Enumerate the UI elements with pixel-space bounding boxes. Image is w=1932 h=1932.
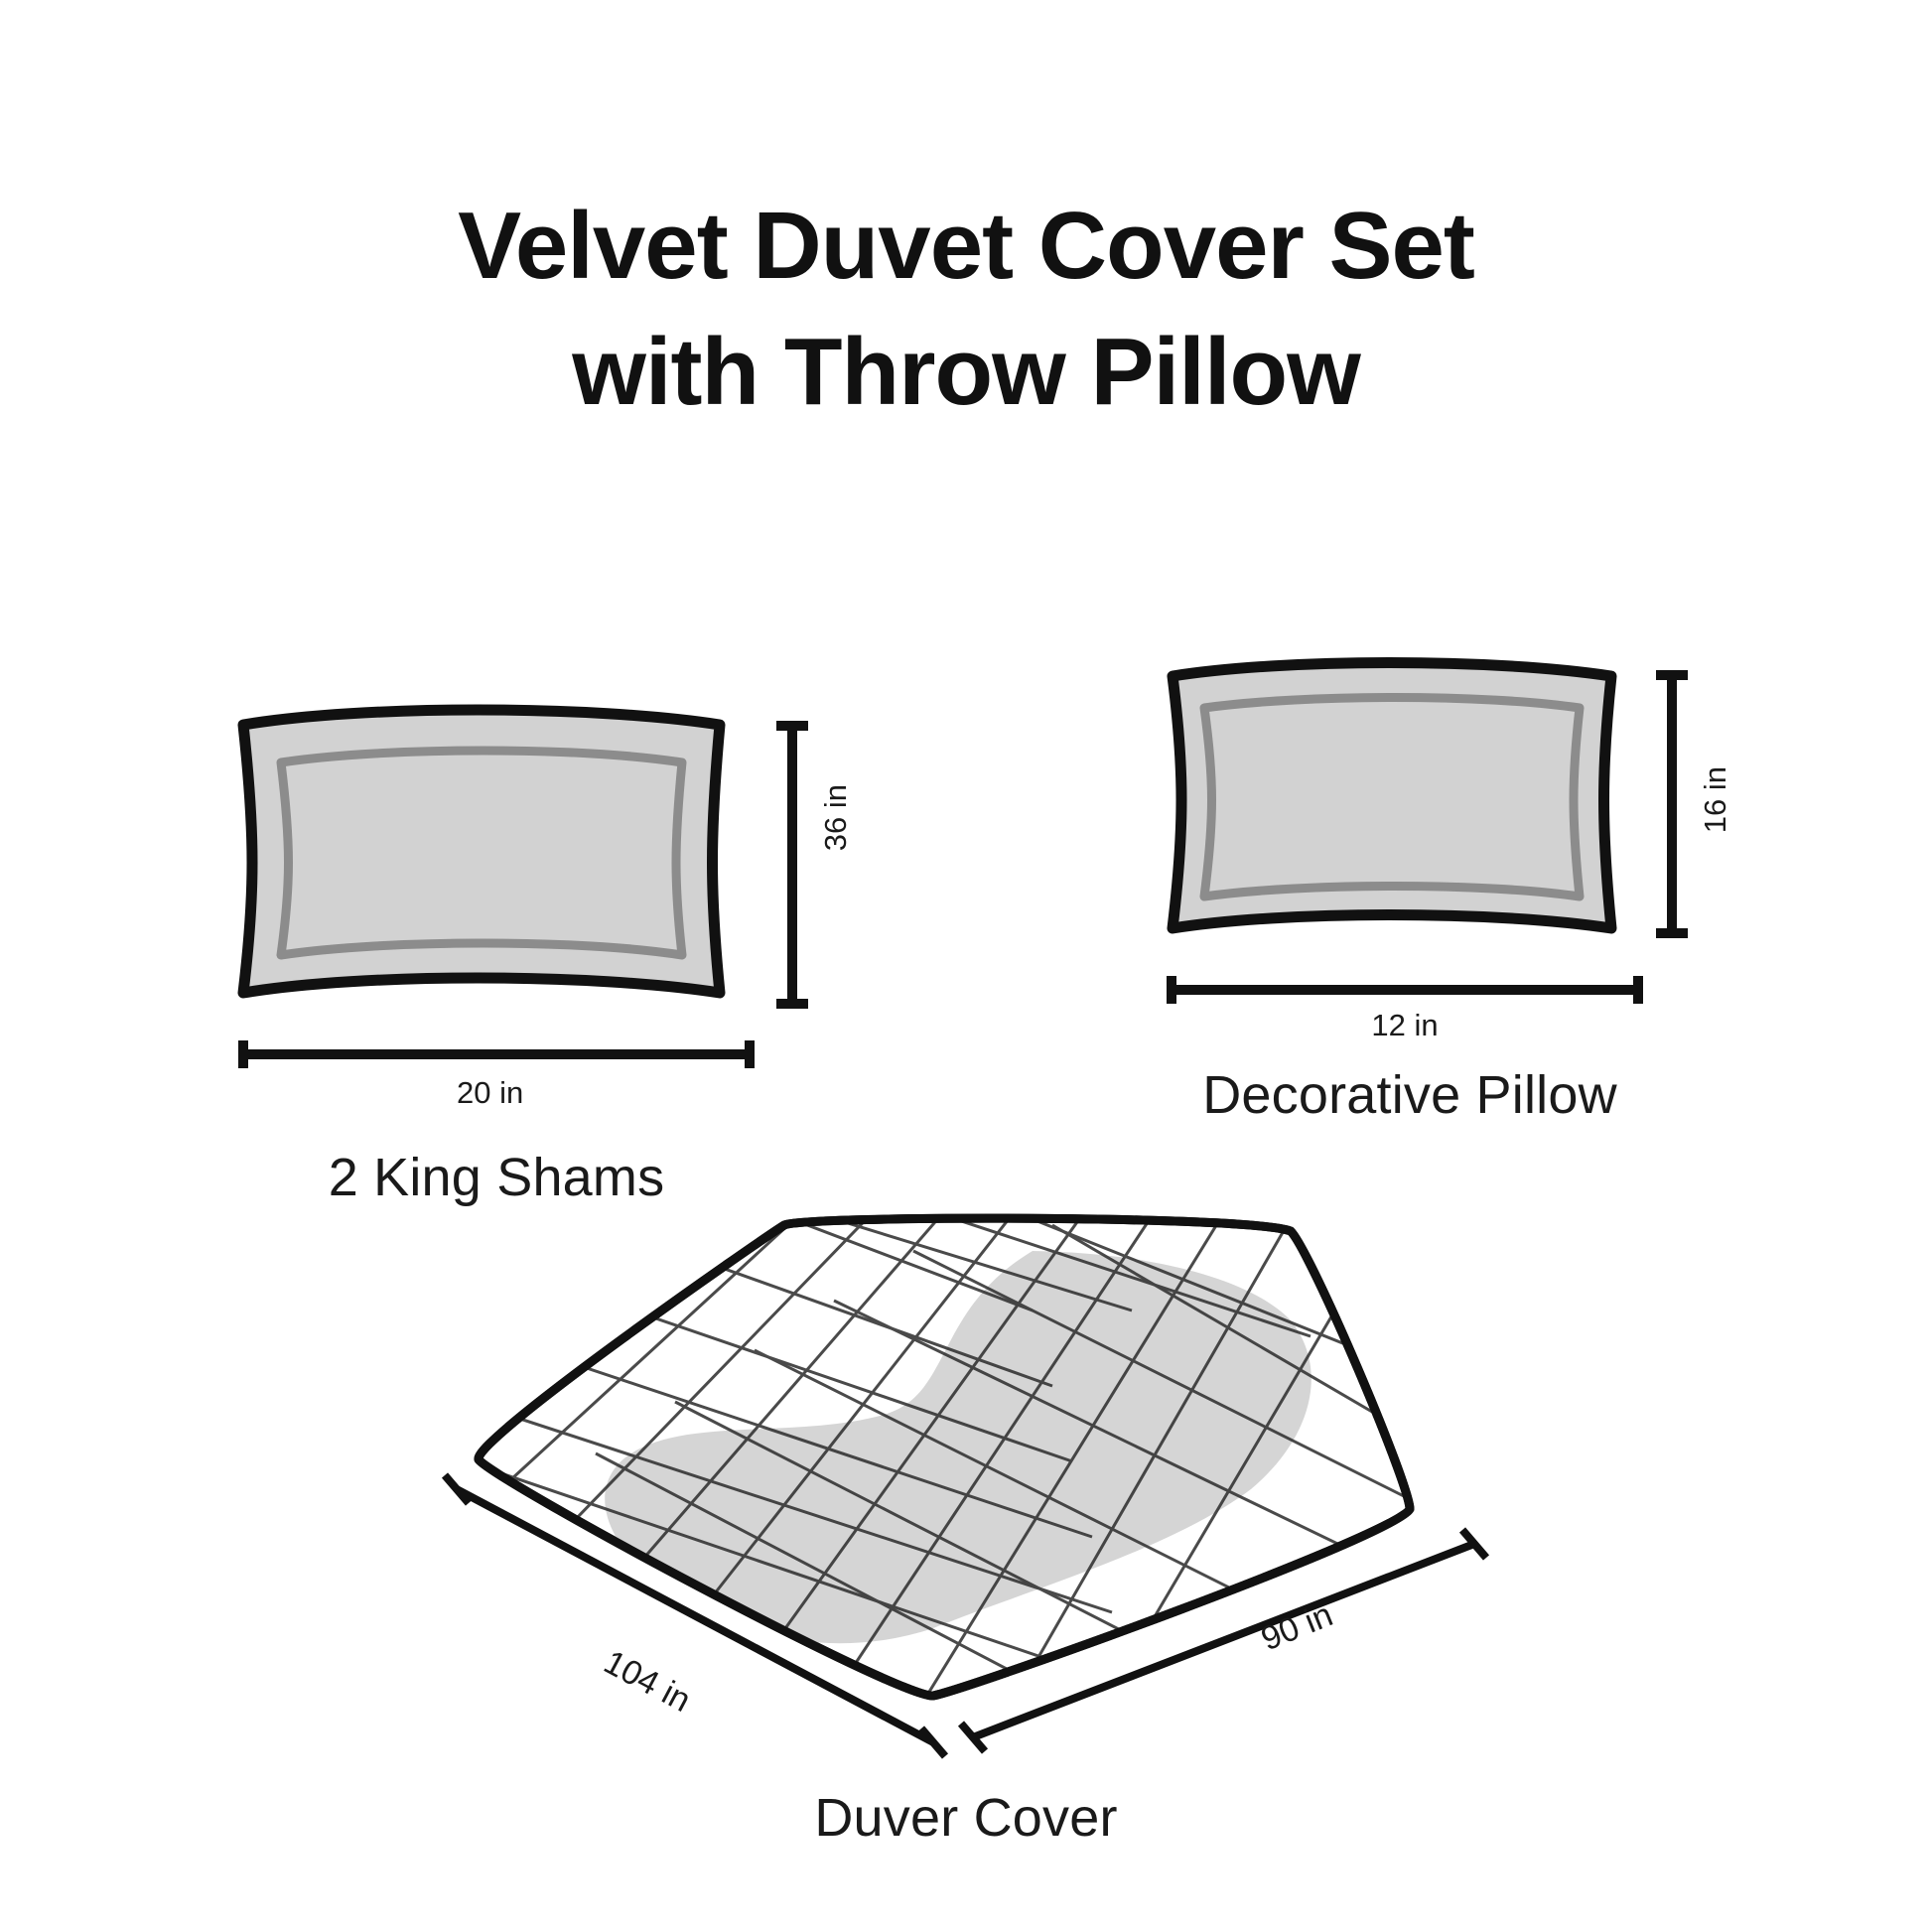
decorative-pillow-illustration: [1147, 650, 1663, 988]
king-sham-height-dimension: [772, 721, 812, 1009]
page-title-line-2: with Throw Pillow: [0, 310, 1932, 436]
decorative-pillow-caption: Decorative Pillow: [1052, 1064, 1767, 1126]
page-title-line-1: Velvet Duvet Cover Set: [0, 184, 1932, 310]
decorative-pillow-width-label: 12 in: [1167, 1008, 1643, 1043]
duvet-cover-caption: Duver Cover: [569, 1787, 1363, 1849]
product-dimension-diagram: Velvet Duvet Cover Set with Throw Pillow…: [0, 0, 1932, 1932]
duvet-cover-illustration: [417, 1191, 1529, 1807]
page-title: Velvet Duvet Cover Set with Throw Pillow: [0, 184, 1932, 435]
decorative-pillow-height-dimension: [1652, 670, 1692, 938]
decorative-pillow-height-label: 16 in: [1698, 766, 1733, 833]
king-sham-height-label: 36 in: [818, 784, 854, 851]
king-sham-width-dimension: [238, 1037, 755, 1071]
decorative-pillow-width-dimension: [1167, 973, 1643, 1007]
